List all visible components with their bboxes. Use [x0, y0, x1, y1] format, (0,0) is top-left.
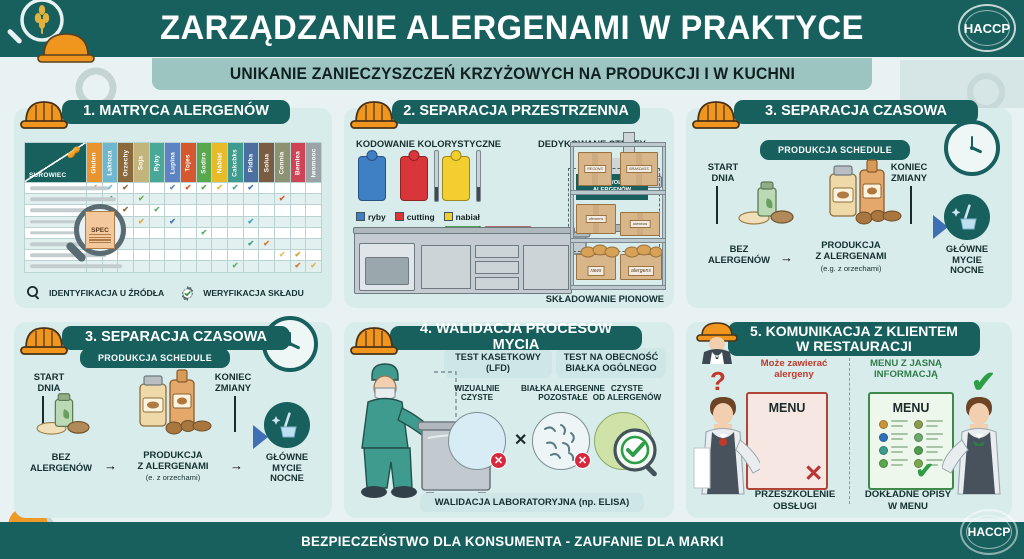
matrix-cell[interactable]	[243, 227, 259, 238]
matrix-cell[interactable]	[259, 261, 275, 272]
matrix-cell[interactable]: ✔	[165, 183, 181, 194]
cabinet-2	[523, 245, 569, 290]
matrix-cell[interactable]	[290, 238, 306, 249]
matrix-cell[interactable]: ✔	[227, 183, 243, 194]
label-color-coding: KODOWANIE KOLORYSTYCZNE	[356, 138, 501, 149]
matrix-cell[interactable]	[243, 250, 259, 261]
matrix-check-icon: ✔	[244, 240, 259, 248]
stage-3-label-top: GŁÓWNEMYCIENOCNE	[926, 244, 1008, 276]
matrix-cell[interactable]	[180, 216, 196, 227]
matrix-cell[interactable]: ✔	[290, 261, 306, 272]
matrix-cell[interactable]	[149, 183, 165, 194]
matrix-cell[interactable]	[180, 227, 196, 238]
matrix-cell[interactable]	[259, 216, 275, 227]
matrix-cell[interactable]	[212, 250, 228, 261]
matrix-cell[interactable]	[165, 250, 181, 261]
menu-item-lines	[891, 446, 908, 455]
matrix-cell[interactable]	[243, 194, 259, 205]
legend-item-dairy: nabiał	[444, 212, 480, 222]
allergen-symbol-icon	[879, 420, 888, 429]
matrix-cell[interactable]	[212, 205, 228, 216]
matrix-check-icon: ✔	[244, 184, 259, 192]
matrix-cell[interactable]: ✔	[133, 194, 149, 205]
matrix-cell[interactable]: ✔	[243, 183, 259, 194]
panel-spatial-separation: KODOWANIE KOLORYSTYCZNE DEDYKOWANE STREF…	[344, 108, 674, 308]
matrix-cell[interactable]	[180, 205, 196, 216]
matrix-corner-label: SUROWIEC	[29, 172, 66, 179]
matrix-cell[interactable]	[306, 238, 322, 249]
schedule-tag-bottom: PRODUKCJA SCHEDULE	[80, 348, 230, 368]
matrix-cell[interactable]: ✔	[133, 216, 149, 227]
matrix-cell[interactable]: ✔	[243, 216, 259, 227]
menu-item-lines	[926, 446, 943, 455]
matrix-cell[interactable]	[212, 261, 228, 272]
operator-times: ✕	[514, 430, 527, 450]
head-clear-menu: MENU Z JASNĄINFORMACJĄ	[840, 358, 972, 381]
matrix-col-header: Connia	[274, 143, 290, 183]
menu-allergen-rows	[875, 415, 947, 483]
matrix-cell[interactable]	[274, 216, 290, 227]
matrix-cell[interactable]: ✔	[243, 238, 259, 249]
menu-allergen-row	[879, 459, 908, 468]
spec-doc-lines	[89, 234, 111, 245]
menu-item-lines	[926, 420, 943, 429]
matrix-cell[interactable]	[165, 205, 181, 216]
menu-item-lines	[891, 459, 908, 468]
menu-allergen-row	[879, 446, 908, 455]
matrix-cell[interactable]	[133, 261, 149, 272]
panel-title-temporal-bottom: 3. SEPARACJA CZASOWA	[62, 326, 290, 350]
allergen-symbol-icon	[914, 420, 923, 429]
panel-temporal-separation-top: PRODUKCJA SCHEDULE STARTDNIA KONIECZMIAN…	[686, 108, 1012, 308]
matrix-cell[interactable]	[227, 227, 243, 238]
matrix-check-icon: ✔	[275, 251, 290, 259]
night-clean-icon-bottom	[264, 402, 310, 448]
box-label: BRAKDASS	[626, 165, 652, 173]
crate-label: alergens	[628, 266, 654, 276]
haccp-scallop-ring	[958, 4, 1016, 52]
check-mark-menu-icon: ✔	[916, 460, 934, 482]
crate-label: raws	[588, 266, 605, 276]
panel-title-communication: 5. KOMUNIKACJA Z KLIENTEMW RESTAURACJI	[728, 322, 980, 356]
matrix-cell[interactable]	[243, 205, 259, 216]
panel-title-validation: 4. WALIDACJA PROCESÓW MYCIA	[390, 326, 642, 350]
stage-1-label-bottom: BEZALERGENÓW	[22, 452, 100, 473]
eq-label-clean: CZYSTEOD ALERGENÓW	[584, 384, 670, 403]
nuts-icon: 🥜	[67, 146, 81, 159]
matrix-check-icon: ✔	[291, 251, 306, 259]
matrix-row-label	[25, 183, 87, 194]
matrix-cell[interactable]: ✔	[290, 250, 306, 261]
gear-check-icon	[179, 285, 196, 302]
matrix-cell[interactable]	[274, 227, 290, 238]
menu-col-good	[879, 420, 908, 483]
matrix-col-header: Soja	[133, 143, 149, 183]
page-subtitle: UNIKANIE ZANIECZYSZCZEŃ KRZYŻOWYCH NA PR…	[229, 65, 794, 84]
matrix-col-header: Lupina	[165, 143, 181, 183]
matrix-footer-left-label: IDENTYFIKACJA U ŹRÓDŁA	[49, 288, 164, 298]
page-title: ZARZĄDZANIE ALERGENAMI W PRAKTYCE	[20, 0, 1003, 57]
haccp-logo-top: HACCP	[958, 4, 1016, 52]
matrix-cell[interactable]	[196, 194, 212, 205]
x-badge-proteins: ✕	[574, 452, 591, 469]
foot-menu-descriptions: DOKŁADNE OPISYW MENU	[842, 489, 974, 512]
matrix-check-icon: ✔	[259, 240, 274, 248]
matrix-check-icon: ✔	[181, 184, 196, 192]
matrix-cell[interactable]	[133, 250, 149, 261]
timeline-top	[710, 220, 934, 235]
x-mark-icon: ✕	[804, 462, 823, 485]
matrix-cell[interactable]	[212, 238, 228, 249]
helmet-icon-2	[348, 96, 400, 130]
haccp-logo-bottom: HACCP	[960, 509, 1018, 555]
matrix-cell[interactable]	[290, 205, 306, 216]
cutting-board-blue	[358, 156, 386, 201]
matrix-cell[interactable]	[274, 261, 290, 272]
matrix-col-header: Solua	[259, 143, 275, 183]
arrow-1-bottom: →	[104, 458, 117, 473]
matrix-check-icon: ✔	[150, 206, 165, 214]
storage-box: abextoas	[620, 212, 660, 236]
matrix-check-icon: ✔	[212, 184, 227, 192]
board-color-legend: ryby cutting nabiał	[356, 212, 480, 222]
matrix-check-icon: ✔	[306, 262, 321, 270]
matrix-cell[interactable]	[274, 183, 290, 194]
allergen-symbol-icon	[914, 446, 923, 455]
matrix-header-row: 🥜 SUROWIEC Gluten Laktoza Orzechy Soja R…	[25, 143, 322, 183]
box-label: REGONS	[584, 165, 606, 173]
matrix-check-icon: ✔	[244, 218, 259, 226]
menu-allergen-row	[914, 446, 943, 455]
matrix-cell[interactable]	[290, 227, 306, 238]
panel-allergen-matrix: 🥜 SUROWIEC Gluten Laktoza Orzechy Soja R…	[14, 108, 332, 308]
legend-label-fish: ryby	[368, 212, 386, 222]
magnifier-glass: SPEC	[74, 204, 126, 256]
matrix-col-header: Laktoza	[102, 143, 118, 183]
matrix-cell[interactable]	[180, 250, 196, 261]
spec-magnifier-icon: SPEC	[62, 204, 128, 270]
matrix-cell[interactable]	[196, 261, 212, 272]
legend-label-cutting: cutting	[407, 212, 435, 222]
matrix-cell[interactable]	[212, 227, 228, 238]
matrix-cell[interactable]	[149, 238, 165, 249]
matrix-cell[interactable]	[149, 227, 165, 238]
stage-3-label-bottom: GŁÓWNEMYCIENOCNE	[248, 452, 326, 484]
matrix-cell[interactable]	[133, 183, 149, 194]
arrow-2-bottom: →	[230, 458, 243, 473]
arrow-1-top: →	[780, 250, 793, 265]
matrix-check-icon: ✔	[197, 184, 212, 192]
storage-box: BRAKDASS	[620, 152, 658, 186]
matrix-cell[interactable]	[306, 205, 322, 216]
vertical-storage-shelf: REGONS BRAKDASS afenxens abextoas raws a…	[570, 142, 666, 290]
matrix-cell[interactable]	[306, 250, 322, 261]
box-label: afenxens	[586, 215, 607, 223]
timeline-bottom	[36, 430, 254, 445]
stage-1-label-top: BEZALERGENÓW	[702, 244, 776, 265]
matrix-cell[interactable]: ✔	[118, 183, 134, 194]
matrix-cell[interactable]: ✔	[274, 250, 290, 261]
matrix-cell[interactable]	[227, 238, 243, 249]
matrix-check-icon: ✔	[275, 195, 290, 203]
label-vertical-storage: SKŁADOWANIE PIONOWE	[546, 293, 664, 304]
matrix-cell[interactable]	[227, 194, 243, 205]
matrix-cell[interactable]: ✔	[306, 261, 322, 272]
matrix-cell[interactable]	[180, 261, 196, 272]
matrix-check-icon: ✔	[165, 218, 180, 226]
matrix-col-header: Tojes	[180, 143, 196, 183]
matrix-col-header: Iwomooc	[306, 143, 322, 183]
night-clean-icon-top	[944, 194, 990, 240]
magnifier-small-icon	[26, 285, 42, 301]
matrix-cell[interactable]	[196, 216, 212, 227]
panel-title-matrix: 1. MATRYCA ALERGENÓW	[62, 100, 290, 124]
matrix-cell[interactable]: ✔	[180, 183, 196, 194]
storage-box: afenxens	[576, 204, 616, 234]
helmet-icon-1	[18, 96, 70, 130]
matrix-cell[interactable]	[306, 227, 322, 238]
matrix-cell[interactable]: ✔	[196, 227, 212, 238]
matrix-cell[interactable]	[274, 238, 290, 249]
matrix-cell[interactable]	[165, 194, 181, 205]
drawer-3	[475, 277, 519, 290]
matrix-cell[interactable]	[227, 205, 243, 216]
matrix-cell[interactable]	[165, 238, 181, 249]
storage-box: REGONS	[578, 152, 612, 186]
menu-allergen-row	[879, 433, 908, 442]
allergen-symbol-icon	[879, 459, 888, 468]
matrix-col-header: Cakcbks	[227, 143, 243, 183]
stage-2-label-top: PRODUKCJAZ ALERGENAMI	[796, 240, 906, 261]
matrix-col-header: Ryby	[149, 143, 165, 183]
menu-col-left-bad	[757, 420, 784, 483]
matrix-cell[interactable]	[165, 261, 181, 272]
matrix-cell[interactable]	[212, 216, 228, 227]
cutting-board-red	[400, 156, 428, 201]
kitchen-counter	[354, 232, 572, 294]
stage-2-sub-bottom: (e. z orzechami)	[120, 474, 226, 483]
matrix-cell[interactable]	[133, 227, 149, 238]
matrix-cell[interactable]	[227, 216, 243, 227]
matrix-check-icon: ✔	[134, 195, 149, 203]
allergen-symbol-icon	[879, 446, 888, 455]
matrix-cell[interactable]	[274, 205, 290, 216]
eq-label-visual-clean: WIZUALNIECZYSTE	[440, 384, 514, 403]
knife-icon-1	[434, 150, 439, 202]
matrix-cell[interactable]	[259, 250, 275, 261]
matrix-cell[interactable]	[259, 194, 275, 205]
foot-staff-training: PRZESZKOLENIEOBSŁUGI	[730, 489, 860, 512]
matrix-cell[interactable]	[306, 194, 322, 205]
matrix-footer: IDENTYFIKACJA U ŹRÓDŁA WERYFIKACJA SKŁAD…	[26, 284, 320, 302]
matrix-cell[interactable]: ✔	[259, 238, 275, 249]
matrix-col-header: Sodiro	[196, 143, 212, 183]
schedule-tag-top: PRODUKCJA SCHEDULE	[760, 140, 910, 160]
menu-item-lines	[926, 433, 943, 442]
matrix-cell[interactable]	[259, 227, 275, 238]
tick-end-bottom	[234, 396, 236, 432]
page-header: ZARZĄDZANIE ALERGENAMI W PRAKTYCE	[0, 0, 1024, 57]
matrix-row: ✔✔✔✔✔✔✔✔✔	[25, 183, 322, 194]
matrix-cell[interactable]	[149, 216, 165, 227]
matrix-cell[interactable]	[306, 216, 322, 227]
stage-2-label-bottom: PRODUKCJAZ ALERGENAMI	[120, 450, 226, 471]
matrix-check-icon: ✔	[134, 218, 149, 226]
matrix-corner-cell: 🥜 SUROWIEC	[25, 143, 87, 183]
panel-title-spatial: 2. SEPARACJA PRZESTRZENNA	[392, 100, 640, 124]
spec-document-icon: SPEC	[85, 211, 115, 249]
matrix-cell[interactable]	[259, 205, 275, 216]
matrix-cell[interactable]	[133, 238, 149, 249]
matrix-check-icon: ✔	[228, 184, 243, 192]
matrix-cell[interactable]	[290, 183, 306, 194]
matrix-cell[interactable]	[149, 250, 165, 261]
matrix-cell[interactable]	[212, 194, 228, 205]
helmet-icon-4	[18, 322, 70, 356]
matrix-cell[interactable]: ✔	[212, 183, 228, 194]
matrix-cell[interactable]	[227, 250, 243, 261]
matrix-col-header: Orzechy	[118, 143, 134, 183]
page-footer: BEZPIECZEŃSTWO DLA KONSUMENTA - ZAUFANIE…	[0, 522, 1024, 559]
stage-2-sub-top: (e.g. z orzechami)	[796, 265, 906, 274]
haccp-scallop-ring-bottom	[960, 509, 1018, 555]
matrix-cell[interactable]	[290, 194, 306, 205]
menu-item-lines	[891, 433, 908, 442]
manager-avatar-icon	[690, 320, 744, 364]
oven-icon	[359, 243, 415, 291]
matrix-col-header: Gluten	[87, 143, 103, 183]
footer-text: BEZPIECZEŃSTWO DLA KONSUMENTA - ZAUFANIE…	[301, 533, 724, 549]
clean-check-magnifier-icon	[610, 426, 666, 482]
matrix-cell[interactable]	[196, 205, 212, 216]
matrix-cell[interactable]	[243, 261, 259, 272]
panel-title-temporal-top: 3. SEPARACJA CZASOWA	[734, 100, 978, 124]
tag-lab-validation: WALIDACJA LABORATORYJNA (np. ELISA)	[420, 493, 644, 512]
legend-label-dairy: nabiał	[456, 212, 480, 222]
drawer-2	[475, 261, 519, 274]
matrix-cell[interactable]	[196, 238, 212, 249]
menu-title-bad: MENU	[753, 401, 821, 415]
matrix-col-header: Bemlea	[290, 143, 306, 183]
matrix-cell[interactable]	[290, 216, 306, 227]
matrix-cell[interactable]	[180, 194, 196, 205]
matrix-check-icon: ✔	[291, 262, 306, 270]
helmet-icon-5	[348, 322, 400, 356]
tick-start-top	[716, 186, 718, 224]
allergen-symbol-icon	[914, 433, 923, 442]
matrix-col-header: Nabiat	[212, 143, 228, 183]
matrix-cell[interactable]	[259, 183, 275, 194]
cabinet-1	[421, 245, 471, 289]
matrix-cell[interactable]: ✔	[274, 194, 290, 205]
menu-allergen-row	[914, 420, 943, 429]
matrix-cell[interactable]	[133, 205, 149, 216]
matrix-check-icon: ✔	[197, 229, 212, 237]
question-mark-icon: ?	[710, 366, 726, 397]
matrix-cell[interactable]: ✔	[196, 183, 212, 194]
cutting-board-yellow	[442, 156, 470, 201]
clock-icon-top	[944, 120, 1000, 176]
produce-icon	[578, 242, 662, 258]
matrix-cell[interactable]	[196, 250, 212, 261]
menu-allergen-row	[914, 433, 943, 442]
matrix-check-icon: ✔	[228, 262, 243, 270]
matrix-cell[interactable]	[149, 194, 165, 205]
spec-doc-label: SPEC	[91, 227, 109, 234]
legend-item-cutting: cutting	[395, 212, 435, 222]
helmet-icon-3	[690, 96, 742, 130]
legend-item-fish: ryby	[356, 212, 386, 222]
matrix-cell[interactable]: ✔	[149, 205, 165, 216]
matrix-cell[interactable]	[306, 183, 322, 194]
matrix-check-icon: ✔	[118, 184, 133, 192]
matrix-footer-right-label: WERYFIKACJA SKŁADU	[203, 288, 304, 298]
x-badge-visual: ✕	[490, 452, 507, 469]
matrix-cell[interactable]: ✔	[165, 216, 181, 227]
matrix-cell[interactable]: ✔	[227, 261, 243, 272]
menu-allergen-row	[879, 420, 908, 429]
matrix-col-header: Pidba	[243, 143, 259, 183]
menu-title-good: MENU	[875, 401, 947, 415]
matrix-cell[interactable]	[149, 261, 165, 272]
menu-item-lines	[891, 420, 908, 429]
matrix-cell[interactable]	[165, 227, 181, 238]
subtitle-bar: UNIKANIE ZANIECZYSZCZEŃ KRZYŻOWYCH NA PR…	[152, 58, 872, 90]
allergen-symbol-icon	[879, 433, 888, 442]
knife-icon-2	[476, 150, 481, 202]
matrix-cell[interactable]	[180, 238, 196, 249]
matrix-check-icon: ✔	[165, 184, 180, 192]
tick-end-top	[910, 186, 912, 224]
box-label: abextoas	[630, 220, 651, 228]
drawer-1	[475, 245, 519, 258]
